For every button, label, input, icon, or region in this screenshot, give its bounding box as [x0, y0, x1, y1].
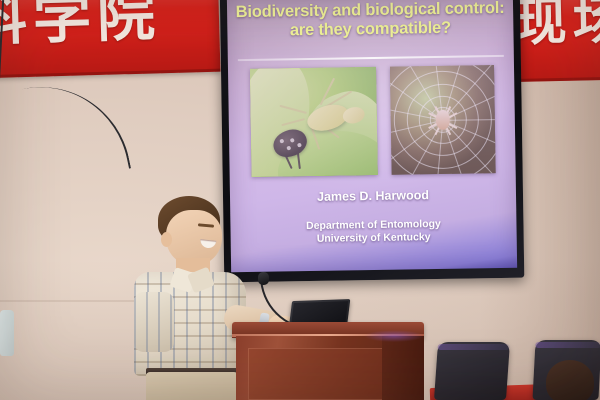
water-bottle — [0, 310, 14, 356]
banner-right-text: 现场 — [514, 0, 600, 54]
red-banner-left: 科学院 — [0, 0, 220, 78]
slide-photo-row — [242, 65, 504, 181]
speaker-trousers — [146, 372, 238, 400]
wooden-podium — [232, 322, 424, 400]
podium-light-reflection — [364, 330, 424, 342]
presentation-photo-scene: 科学院 现场 Biodiversity and biological contr… — [0, 0, 600, 400]
banner-left-text: 科学院 — [0, 0, 198, 51]
red-banner-right: 现场 — [512, 0, 600, 82]
slide-title: Biodiversity and biological control: are… — [231, 0, 510, 41]
slide-surface: Biodiversity and biological control: are… — [227, 0, 517, 272]
slide-image-orb-weaver — [390, 65, 496, 175]
speaker-ear — [161, 232, 172, 247]
chair-left — [434, 342, 510, 400]
prey-marking — [297, 143, 302, 148]
chair-highlight — [535, 342, 600, 348]
prey-marking — [290, 138, 295, 143]
slide-image-lynx-spider — [250, 67, 378, 177]
projection-screen: Biodiversity and biological control: are… — [220, 0, 525, 282]
slide-author-name: James D. Harwood — [230, 187, 516, 205]
prey-marking — [286, 146, 291, 151]
podium-inset-panel — [248, 348, 388, 400]
title-divider-line — [238, 55, 504, 61]
chair-highlight — [437, 344, 509, 350]
microphone-head-icon — [258, 272, 269, 285]
prey-marking — [279, 139, 284, 144]
podium-side-panel — [382, 336, 424, 400]
audience-member-head — [546, 360, 594, 400]
slide-affiliation: Department of Entomology University of K… — [230, 217, 516, 247]
speaker-sleeve — [134, 292, 174, 352]
orb-weaver-spider-body — [436, 110, 450, 130]
